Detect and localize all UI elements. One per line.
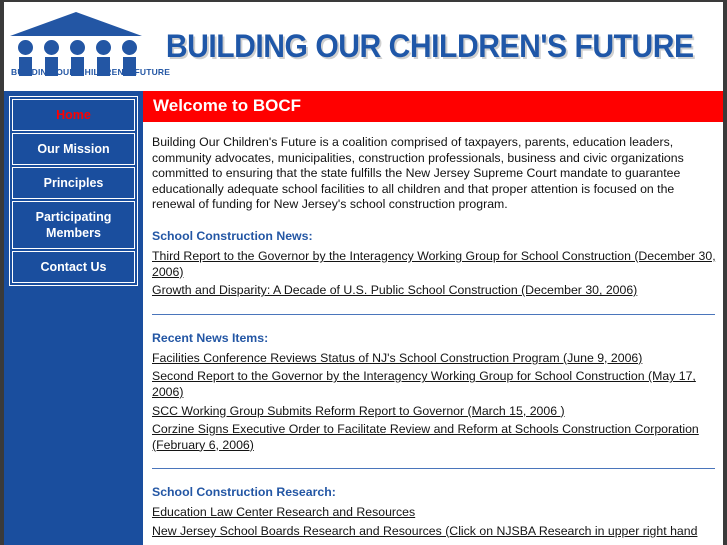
- news-link[interactable]: Corzine Signs Executive Order to Facilit…: [152, 422, 717, 453]
- roof-shape: [10, 12, 142, 36]
- research-link[interactable]: Education Law Center Research and Resour…: [152, 505, 717, 521]
- masthead-title-area: BUILDING OUR CHILDREN'S FUTURE: [147, 2, 723, 91]
- site-logo[interactable]: BUILDING OUR CHILDREN'S FUTURE: [4, 2, 147, 77]
- figure-icon-1: [18, 40, 33, 76]
- news-link[interactable]: Second Report to the Governor by the Int…: [152, 369, 717, 400]
- section-divider: [152, 314, 715, 315]
- sidebar-item-contact-us[interactable]: Contact Us: [12, 251, 135, 283]
- figure-icon-4: [96, 40, 111, 76]
- section-title: School Construction Research:: [152, 485, 717, 499]
- sidebar-item-our-mission[interactable]: Our Mission: [12, 133, 135, 165]
- sidebar-item-home[interactable]: Home: [12, 99, 135, 131]
- page-root: BUILDING OUR CHILDREN'S FUTURE BUILDING …: [0, 0, 727, 545]
- section-divider: [152, 468, 715, 469]
- page-body: Home Our Mission Principles Participatin…: [4, 91, 723, 545]
- content-inner: Building Our Children's Future is a coal…: [143, 135, 723, 540]
- section-recent-news-items: Recent News Items: Facilities Conference…: [152, 331, 717, 454]
- section-school-construction-research: School Construction Research: Education …: [152, 485, 717, 539]
- news-link[interactable]: Facilities Conference Reviews Status of …: [152, 351, 717, 367]
- news-link[interactable]: SCC Working Group Submits Reform Report …: [152, 404, 717, 420]
- sidebar: Home Our Mission Principles Participatin…: [4, 91, 143, 545]
- content-banner-title: Welcome to BOCF: [143, 91, 723, 122]
- section-school-construction-news: School Construction News: Third Report t…: [152, 229, 717, 299]
- research-link[interactable]: New Jersey School Boards Research and Re…: [152, 524, 717, 540]
- building-logo-icon: [10, 10, 142, 66]
- figure-icon-5: [122, 40, 137, 76]
- sidebar-item-principles[interactable]: Principles: [12, 167, 135, 199]
- intro-paragraph: Building Our Children's Future is a coal…: [152, 135, 715, 213]
- news-link[interactable]: Growth and Disparity: A Decade of U.S. P…: [152, 283, 717, 299]
- figure-icon-2: [44, 40, 59, 76]
- news-link[interactable]: Third Report to the Governor by the Inte…: [152, 249, 717, 280]
- section-title: Recent News Items:: [152, 331, 717, 345]
- section-title: School Construction News:: [152, 229, 717, 243]
- figure-icon-3: [70, 40, 85, 76]
- sidebar-nav: Home Our Mission Principles Participatin…: [9, 96, 138, 286]
- sidebar-item-participating-members[interactable]: Participating Members: [12, 201, 135, 249]
- masthead: BUILDING OUR CHILDREN'S FUTURE BUILDING …: [4, 2, 723, 91]
- main-content: Welcome to BOCF Building Our Children's …: [143, 91, 723, 545]
- page-title: BUILDING OUR CHILDREN'S FUTURE: [166, 28, 694, 65]
